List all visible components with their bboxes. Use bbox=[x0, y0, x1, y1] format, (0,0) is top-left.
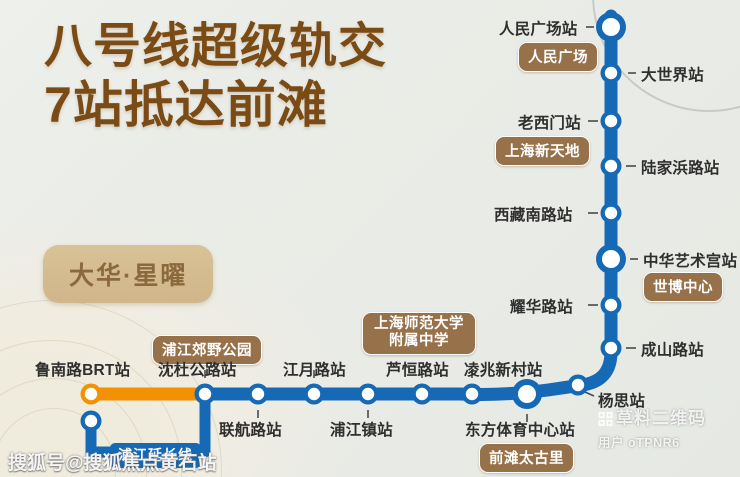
watermark-sohu: 搜狐号@搜狐焦点黄石站 bbox=[8, 448, 217, 475]
station-label-lingzhao-xincun: 凌兆新村站 bbox=[464, 358, 543, 380]
station-label-luheng-lu: 芦恒路站 bbox=[386, 358, 449, 380]
station-label-dashijie: 大世界站 bbox=[641, 63, 704, 85]
poi-badge-xintiandi: 上海新天地 bbox=[495, 136, 590, 166]
poster-root: 八号线超级轨交 7站抵达前滩 大华·星曜 bbox=[0, 0, 740, 477]
poi-badge-qiantan-taikooli: 前滩太古里 bbox=[479, 443, 574, 473]
station-label-lunan-lu-brt: 鲁南路BRT站 bbox=[35, 358, 130, 380]
station-label-yaohua-lu: 耀华路站 bbox=[510, 295, 573, 317]
watermark-qrcode-block: 草料二维码 用户 oTPNR6 bbox=[598, 404, 730, 451]
station-label-chengshan-lu: 成山路站 bbox=[641, 338, 704, 360]
station-label-dongfang-tiyu-zhongxin: 东方体育中心站 bbox=[465, 418, 575, 440]
poi-shida-line2: 附属中学 bbox=[374, 333, 464, 350]
station-label-lianhang-lu: 联航路站 bbox=[219, 418, 282, 440]
station-label-shendu-gonglu: 沈杜公路站 bbox=[158, 358, 237, 380]
station-label-lujiabang-lu: 陆家浜路站 bbox=[641, 156, 720, 178]
qr-code-icon bbox=[598, 412, 613, 426]
station-label-renmin-guangchang: 人民广场站 bbox=[499, 17, 578, 39]
poi-badge-shida-fuzhong: 上海师范大学 附属中学 bbox=[362, 312, 476, 355]
watermark-qr-line1: 草料二维码 bbox=[598, 404, 730, 429]
station-label-xizang-nanlu: 西藏南路站 bbox=[494, 203, 573, 225]
station-label-pujiang-zhen: 浦江镇站 bbox=[330, 418, 393, 440]
poi-badge-shibo-zhongxin: 世博中心 bbox=[643, 272, 723, 302]
watermark-qr-text: 草料二维码 bbox=[616, 409, 706, 428]
station-label-zhonghua-yishugong: 中华艺术宫站 bbox=[643, 249, 737, 271]
watermark-qr-line2: 用户 oTPNR6 bbox=[598, 432, 730, 451]
poi-badge-renmin-guangchang: 人民广场 bbox=[518, 42, 598, 72]
poi-shida-line1: 上海师范大学 bbox=[374, 316, 464, 333]
station-label-laoximen: 老西门站 bbox=[518, 111, 581, 133]
station-label-jiangyue-lu: 江月路站 bbox=[283, 358, 346, 380]
